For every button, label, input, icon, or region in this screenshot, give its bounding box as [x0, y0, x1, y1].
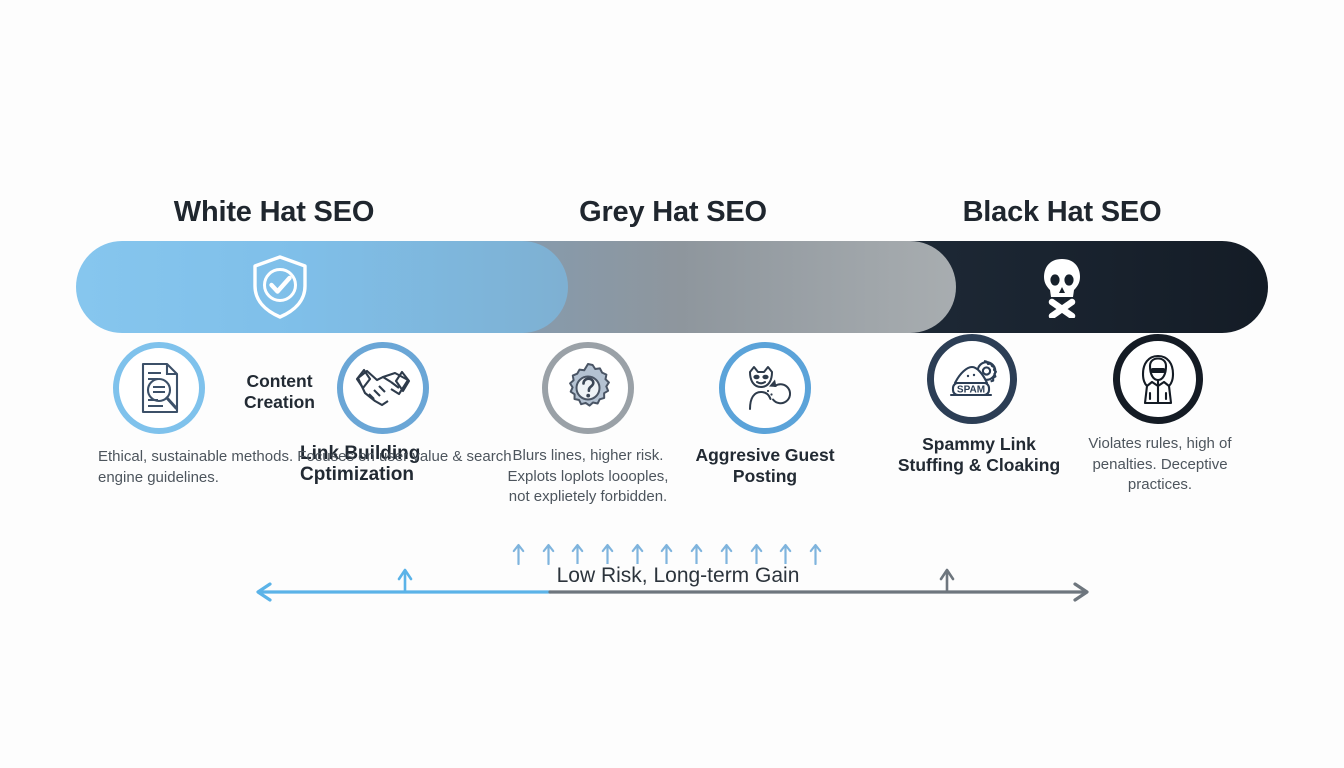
document-magnifier-icon: [113, 342, 205, 434]
svg-text:SPAM: SPAM: [957, 385, 985, 396]
heading-white-hat: White Hat SEO: [124, 196, 424, 229]
heading-black-hat: Black Hat SEO: [912, 196, 1212, 229]
tactic-label-spammy-link: Spammy LinkStuffing & Cloaking: [890, 434, 1068, 476]
description-grey-hat: Blurs lines, higher risk. Explots loplot…: [498, 446, 678, 508]
gear-question-icon: [542, 342, 634, 434]
mask-refresh-icon: [719, 342, 811, 434]
infographic-canvas: White Hat SEO Grey Hat SEO Black Hat SEO: [0, 0, 1344, 768]
risk-spectrum-bar: [76, 241, 1268, 333]
risk-gain-axis: Low Risk, Long-term Gain: [250, 560, 1095, 608]
spam-pile-gear-icon: SPAM: [927, 334, 1017, 424]
tactic-label-content-creation: ContentCreation: [208, 371, 351, 413]
heading-grey-hat: Grey Hat SEO: [523, 196, 823, 229]
hooded-hacker-icon: [1113, 334, 1203, 424]
axis-label: Low Risk, Long-term Gain: [550, 564, 806, 588]
shield-check-icon: [234, 241, 326, 333]
description-white-hat: Ethical, sustainable methods. Focuses on…: [98, 447, 558, 488]
tactic-label-guest-posting: Aggresive GuestPosting: [676, 445, 854, 487]
description-black-hat: Violates rules, high of penalties. Decep…: [1072, 434, 1248, 496]
skull-crossbones-icon: [1016, 241, 1108, 333]
